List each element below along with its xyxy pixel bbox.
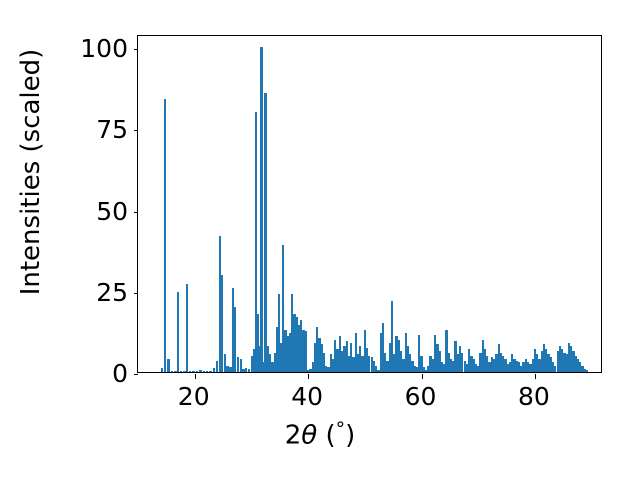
x-tick-label: 80 <box>494 384 574 409</box>
x-tick-label: 20 <box>154 384 234 409</box>
y-tick-label: 75 <box>96 117 128 142</box>
bar <box>161 368 163 372</box>
y-tick <box>134 130 139 131</box>
x-tick-label: 40 <box>267 384 347 409</box>
x-tick-label: 60 <box>381 384 461 409</box>
x-tick <box>422 374 423 379</box>
x-title-theta: θ <box>301 421 317 451</box>
bar <box>167 359 169 372</box>
x-tick <box>195 374 196 379</box>
bar <box>209 371 211 372</box>
y-tick-label: 25 <box>96 280 128 305</box>
y-tick-label: 0 <box>112 361 128 386</box>
bar <box>196 371 198 372</box>
bar <box>260 47 262 372</box>
y-tick-label: 50 <box>96 199 128 224</box>
xrd-pattern-figure: 0255075100 20406080 2θ (°) Intensities (… <box>0 0 640 480</box>
bar <box>186 284 188 372</box>
x-title-prefix: 2 <box>285 421 302 451</box>
bar-series <box>138 36 601 372</box>
y-tick <box>134 374 139 375</box>
y-tick <box>134 49 139 50</box>
bar <box>177 292 179 372</box>
x-title-unit-close: ) <box>345 421 355 451</box>
degree-symbol: ° <box>336 418 346 440</box>
bar <box>164 99 166 372</box>
x-tick <box>535 374 536 379</box>
bar <box>264 93 266 373</box>
x-title-unit-open: ( <box>317 421 335 451</box>
x-axis-title: 2θ (°) <box>0 418 640 451</box>
y-tick <box>134 212 139 213</box>
bar <box>180 371 182 372</box>
bar <box>206 371 208 372</box>
y-tick-label: 100 <box>80 36 128 61</box>
y-axis-title: Intensities (scaled) <box>16 0 46 372</box>
x-tick <box>308 374 309 379</box>
bar <box>203 371 205 372</box>
bar <box>189 371 191 372</box>
bar <box>305 331 307 372</box>
bar <box>199 370 201 372</box>
y-tick <box>134 293 139 294</box>
plot-area <box>137 35 602 373</box>
bar <box>192 371 194 372</box>
bar <box>171 371 173 372</box>
bar <box>586 370 588 372</box>
